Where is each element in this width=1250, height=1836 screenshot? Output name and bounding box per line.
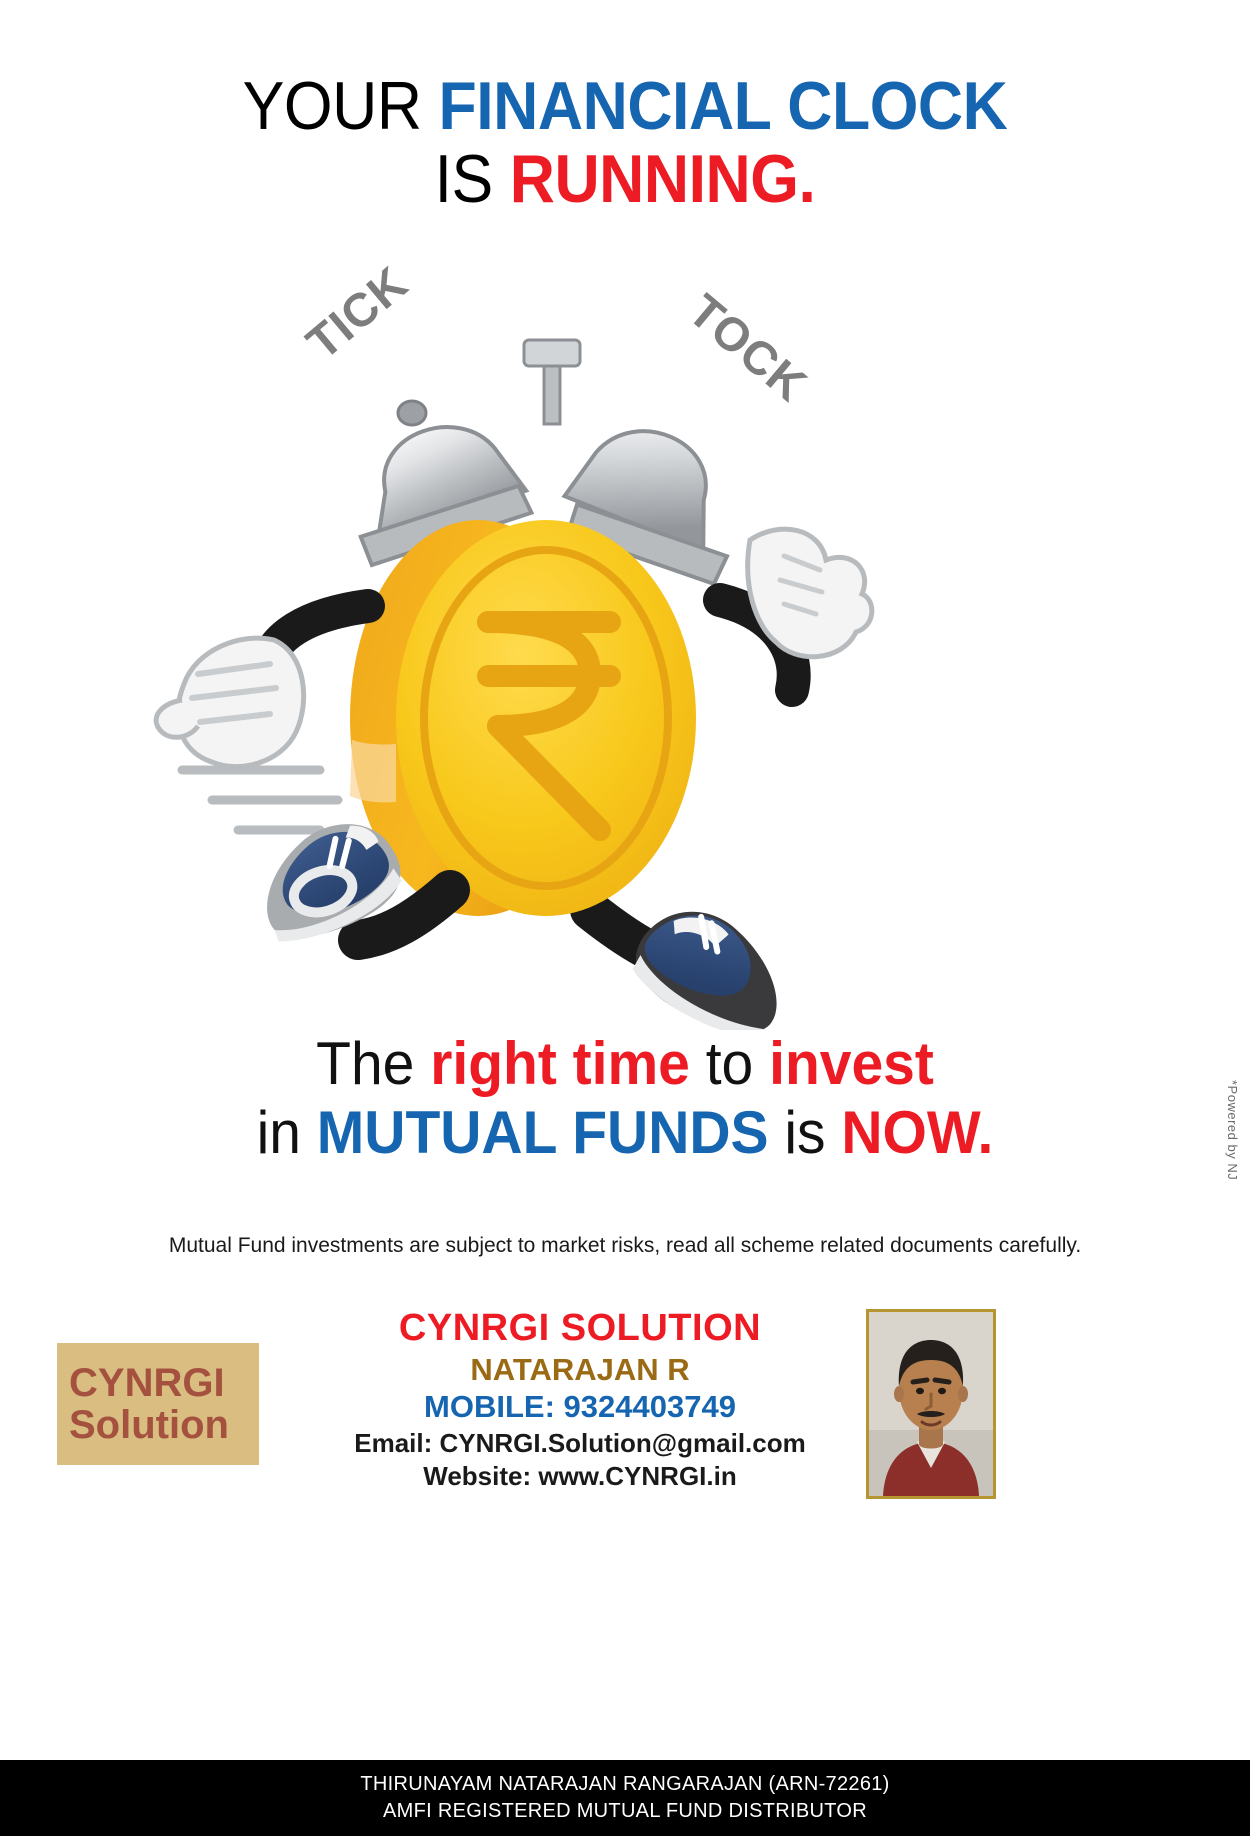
advisor-photo	[866, 1309, 996, 1499]
page-title: YOUR FINANCIAL CLOCK IS RUNNING.	[0, 72, 1250, 215]
sub-the: The	[316, 1030, 430, 1097]
sub-mutual-funds: MUTUAL FUNDS	[317, 1099, 769, 1166]
cynrgi-logo: CYNRGI Solution	[57, 1343, 259, 1465]
company-name: CYNRGI SOLUTION	[300, 1307, 860, 1351]
footer-line-1: THIRUNAYAM NATARAJAN RANGARAJAN (ARN-722…	[360, 1771, 889, 1798]
powered-by-label: *Powered by NJ	[1225, 1080, 1240, 1180]
website-url[interactable]: Website: www.CYNRGI.in	[300, 1460, 860, 1494]
headline-line-2: IS RUNNING.	[50, 145, 1200, 214]
contact-section: CYNRGI Solution CYNRGI SOLUTION NATARAJA…	[0, 1295, 1250, 1510]
logo-line-2: Solution	[69, 1404, 229, 1446]
sub-message-line-2: in MUTUAL FUNDS is NOW.	[31, 1101, 1219, 1164]
headline-line-1: YOUR FINANCIAL CLOCK	[50, 72, 1200, 141]
email-address[interactable]: Email: CYNRGI.Solution@gmail.com	[300, 1427, 860, 1461]
right-arm	[720, 529, 872, 690]
footer-bar: THIRUNAYAM NATARAJAN RANGARAJAN (ARN-722…	[0, 1760, 1250, 1836]
sub-to: to	[690, 1030, 769, 1097]
contact-details: CYNRGI SOLUTION NATARAJAN R MOBILE: 9324…	[300, 1307, 860, 1494]
headline-financial-clock: FINANCIAL CLOCK	[438, 68, 1007, 144]
sub-message-line-1: The right time to invest	[31, 1032, 1219, 1095]
logo-line-1: CYNRGI	[69, 1362, 225, 1404]
clock-winder	[524, 340, 580, 424]
speed-lines	[182, 770, 338, 830]
sub-message: The right time to invest in MUTUAL FUNDS…	[0, 1032, 1250, 1164]
sub-in: in	[257, 1099, 317, 1166]
sub-now: NOW.	[841, 1099, 993, 1166]
mobile-number[interactable]: MOBILE: 9324403749	[300, 1388, 860, 1427]
right-leg	[590, 894, 801, 1030]
sub-invest: invest	[769, 1030, 934, 1097]
disclaimer-text: Mutual Fund investments are subject to m…	[0, 1234, 1250, 1258]
left-arm	[156, 606, 368, 767]
sub-right-time: right time	[430, 1030, 690, 1097]
headline-your: YOUR	[243, 68, 439, 144]
footer-line-2: AMFI REGISTERED MUTUAL FUND DISTRIBUTOR	[383, 1798, 867, 1825]
rupee-coin-body	[350, 520, 696, 916]
running-coin-clock-illustration	[120, 270, 880, 1030]
headline-is: IS	[435, 141, 510, 217]
sub-is: is	[769, 1099, 842, 1166]
headline-running: RUNNING.	[510, 141, 816, 217]
advisor-name: NATARAJAN R	[300, 1351, 860, 1388]
